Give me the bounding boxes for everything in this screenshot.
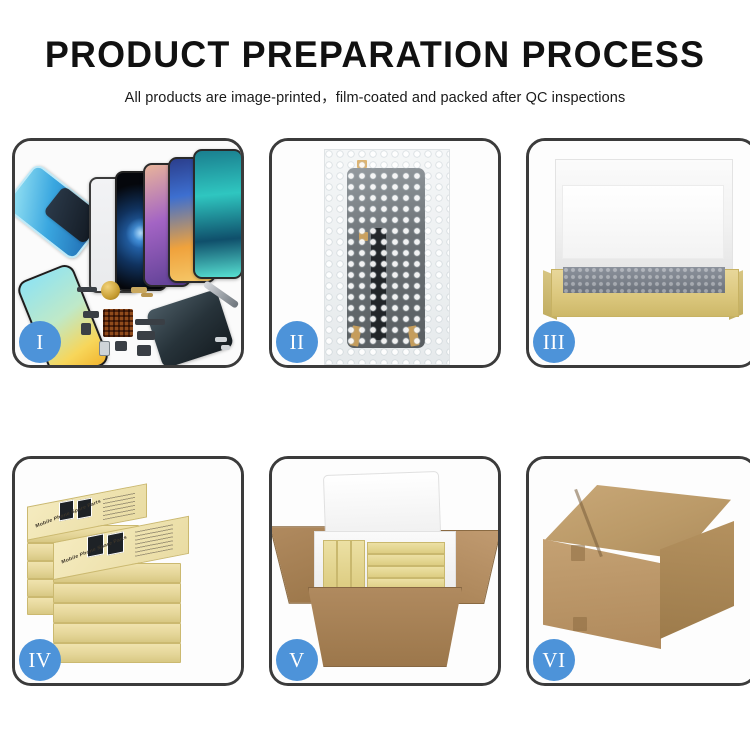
yellow-box-6 [367,566,445,578]
bubble-texture [325,150,449,364]
process-step-2[interactable]: II [269,138,501,368]
yellow-box-1 [323,540,337,588]
page-title: PRODUCT PREPARATION PROCESS [11,36,739,75]
step-badge-6: VI [533,639,575,681]
carton-tape-lower [573,617,587,631]
process-step-1[interactable]: I [12,138,244,368]
flex-cable-a [135,319,165,325]
step-badge-2: II [276,321,318,363]
small-part-g [115,341,127,351]
stacked-box-f3 [53,603,181,623]
small-part-d [83,311,99,318]
screw-b [221,345,230,350]
chip-array-component [103,309,133,337]
yellow-box-3 [351,540,365,588]
small-part-a [77,287,97,292]
page-subtitle: All products are image-printed，film-coat… [0,86,750,107]
phone-screen-teal [193,149,241,279]
step-badge-3: III [533,321,575,363]
step-badge-5: V [276,639,318,681]
stacked-box-f4 [53,623,181,643]
foam-box-lid [323,471,441,539]
bubble-wrap-bag [324,149,450,365]
process-step-5[interactable]: V [269,456,501,686]
stacked-box-f5 [53,643,181,663]
process-step-grid: I II III [12,138,738,686]
screw-a [215,337,227,342]
step-badge-4: IV [19,639,61,681]
carton-tape-upper [571,545,585,561]
step-badge-1: I [19,321,61,363]
process-step-4[interactable]: Mobile Phone Spare Parts Mobile Phone Sp… [12,456,244,686]
box-stack: Mobile Phone Spare Parts Mobile Phone Sp… [25,477,231,673]
small-part-c [141,293,153,297]
yellow-box-4 [367,542,445,554]
foam-sheet [562,185,724,259]
grey-bubble-padding [563,267,725,293]
yellow-box-2 [337,540,351,588]
shipping-carton-open [308,587,462,667]
small-part-f [99,341,110,356]
phone-rear-housing [146,289,235,365]
yellow-box-5 [367,554,445,566]
coil-component [101,281,120,300]
process-step-3[interactable]: III [526,138,750,368]
small-part-e [81,323,91,335]
process-step-6[interactable]: VI [526,456,750,686]
small-part-i [137,345,151,356]
stacked-box-f2 [53,583,181,603]
small-part-h [137,331,155,340]
page-header: PRODUCT PREPARATION PROCESS All products… [0,0,750,107]
